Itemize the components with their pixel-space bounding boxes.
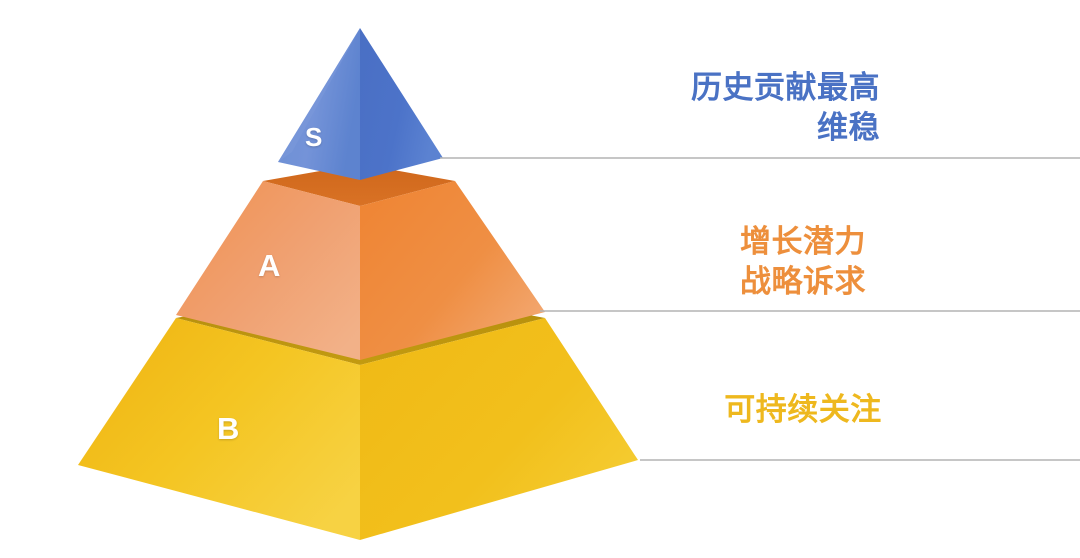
tier-label-a: 增长潜力 战略诉求 bbox=[645, 222, 961, 301]
tier-label-s: 历史贡献最高 维稳 bbox=[560, 68, 880, 147]
tier-letter-b: B bbox=[217, 413, 239, 444]
diagram-canvas: S A B 历史贡献最高 维稳 增长潜力 战略诉求 可持续关注 bbox=[0, 0, 1080, 558]
tier-s-right-face bbox=[360, 28, 443, 180]
tier-label-b: 可持续关注 bbox=[645, 390, 961, 430]
tier-letter-a: A bbox=[258, 250, 280, 281]
tier-letter-s: S bbox=[305, 124, 322, 150]
tier-s-left-face bbox=[278, 28, 360, 180]
pyramid-tier-s[interactable] bbox=[278, 28, 443, 180]
